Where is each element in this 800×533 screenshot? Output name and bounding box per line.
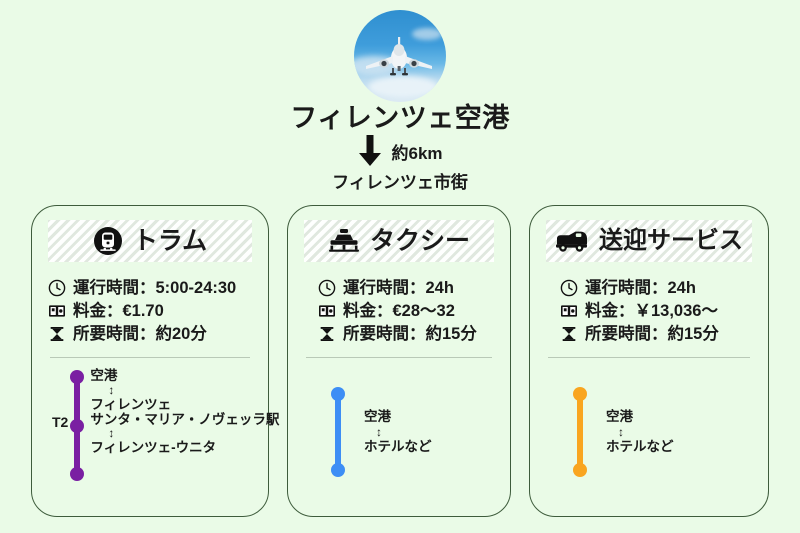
tram-stop: 空港 bbox=[90, 368, 279, 384]
info-row: 運行時間：24h bbox=[560, 278, 752, 298]
transport-cards: トラム 運行時間：5:00-24:30 料金：€1.70 bbox=[0, 205, 800, 517]
cloud-shape bbox=[368, 76, 438, 98]
info-row: 所要時間：約15分 bbox=[318, 324, 494, 344]
tram-stop: フィレンツェ bbox=[90, 397, 279, 412]
route-separator-icon: ↕ bbox=[606, 426, 674, 439]
card-shuttle-info: 運行時間：24h 料金：￥13,036〜 bbox=[546, 278, 752, 344]
distance-row: 約6km bbox=[357, 134, 442, 168]
card-tram[interactable]: トラム 運行時間：5:00-24:30 料金：€1.70 bbox=[31, 205, 269, 517]
route-to: ホテルなど bbox=[606, 439, 674, 455]
card-taxi-info: 運行時間：24h 料金：€28〜32 所要 bbox=[304, 278, 494, 344]
taxi-route-diagram: 空港 ↕ ホテルなど bbox=[304, 358, 494, 506]
shuttle-line-bar bbox=[577, 394, 583, 470]
info-text: 運行時間：24h bbox=[585, 278, 696, 298]
taxi-stop-list: 空港 ↕ ホテルなど bbox=[364, 409, 432, 455]
shuttle-stop-list: 空港 ↕ ホテルなど bbox=[606, 409, 674, 455]
route-separator-icon: ↕ bbox=[90, 384, 279, 397]
info-row: 料金：€28〜32 bbox=[318, 301, 494, 321]
shuttle-endpoint-dot bbox=[573, 387, 587, 401]
hourglass-icon bbox=[318, 325, 336, 343]
route-to: ホテルなど bbox=[364, 439, 432, 455]
info-row: 運行時間：24h bbox=[318, 278, 494, 298]
info-row: 運行時間：5:00-24:30 bbox=[48, 278, 252, 298]
taxi-line-graphic bbox=[330, 387, 346, 477]
clock-icon bbox=[318, 279, 336, 297]
card-tram-title: トラム bbox=[133, 229, 207, 254]
info-text: 料金：€28〜32 bbox=[343, 301, 455, 321]
tram-route-diagram: T2 空港 ↕ フィレンツェ サンタ・マリア・ノヴェッラ駅 ↕ フィレンツェ-ウ… bbox=[48, 370, 252, 506]
airplane-photo bbox=[354, 10, 446, 102]
ticket-icon bbox=[48, 302, 66, 320]
info-row: 所要時間：約20分 bbox=[48, 324, 252, 344]
hourglass-icon bbox=[560, 325, 578, 343]
card-taxi[interactable]: タクシー 運行時間：24h 料金：€28〜32 bbox=[287, 205, 511, 517]
card-shuttle-header: 送迎サービス bbox=[546, 220, 752, 262]
tram-stop: サンタ・マリア・ノヴェッラ駅 bbox=[90, 412, 279, 427]
shuttle-endpoint-dot bbox=[573, 463, 587, 477]
page-title: フィレンツェ空港 bbox=[290, 104, 509, 132]
header-section: フィレンツェ空港 約6km フィレンツェ市街 bbox=[0, 0, 800, 195]
clock-icon bbox=[48, 279, 66, 297]
card-shuttle[interactable]: 送迎サービス 運行時間：24h 料金：￥13,036〜 bbox=[529, 205, 769, 517]
route-separator-icon: ↕ bbox=[90, 427, 279, 440]
tram-stop-dot bbox=[70, 419, 84, 433]
tram-stop-dot bbox=[70, 370, 84, 384]
route-from: 空港 bbox=[606, 409, 674, 425]
taxi-endpoint-dot bbox=[331, 387, 345, 401]
info-row: 所要時間：約15分 bbox=[560, 324, 752, 344]
taxi-endpoint-dot bbox=[331, 463, 345, 477]
hourglass-icon bbox=[48, 325, 66, 343]
tram-stop: フィレンツェ-ウニタ bbox=[90, 440, 279, 456]
card-taxi-header: タクシー bbox=[304, 220, 494, 262]
airplane-icon bbox=[363, 36, 437, 76]
card-shuttle-title: 送迎サービス bbox=[599, 229, 743, 253]
ticket-icon bbox=[560, 302, 578, 320]
info-row: 料金：€1.70 bbox=[48, 301, 252, 321]
info-text: 運行時間：24h bbox=[343, 278, 454, 298]
taxi-icon bbox=[328, 228, 360, 254]
tram-stop-list: 空港 ↕ フィレンツェ サンタ・マリア・ノヴェッラ駅 ↕ フィレンツェ-ウニタ bbox=[90, 368, 279, 455]
down-arrow-icon bbox=[357, 135, 383, 167]
tram-stop-dot bbox=[70, 467, 84, 481]
info-text: 所要時間：約15分 bbox=[343, 324, 477, 344]
info-text: 所要時間：約20分 bbox=[73, 324, 207, 344]
clock-icon bbox=[560, 279, 578, 297]
info-text: 料金：€1.70 bbox=[73, 301, 164, 321]
card-taxi-title: タクシー bbox=[370, 229, 470, 254]
shuttle-route-diagram: 空港 ↕ ホテルなど bbox=[546, 358, 752, 506]
info-text: 料金：￥13,036〜 bbox=[585, 301, 718, 321]
divider bbox=[50, 357, 250, 358]
card-tram-header: トラム bbox=[48, 220, 252, 262]
route-separator-icon: ↕ bbox=[364, 426, 432, 439]
tram-icon bbox=[93, 226, 123, 256]
ticket-icon bbox=[318, 302, 336, 320]
destination-label: フィレンツェ市街 bbox=[332, 168, 468, 193]
card-tram-info: 運行時間：5:00-24:30 料金：€1.70 bbox=[48, 278, 252, 344]
info-text: 所要時間：約15分 bbox=[585, 324, 719, 344]
route-from: 空港 bbox=[364, 409, 432, 425]
info-row: 料金：￥13,036〜 bbox=[560, 301, 752, 321]
info-text: 運行時間：5:00-24:30 bbox=[73, 278, 236, 298]
shuttle-line-graphic bbox=[572, 387, 588, 477]
taxi-line-bar bbox=[335, 394, 341, 470]
van-icon bbox=[555, 229, 589, 253]
tram-line-label: T2 bbox=[52, 414, 68, 430]
distance-label: 約6km bbox=[391, 139, 442, 164]
